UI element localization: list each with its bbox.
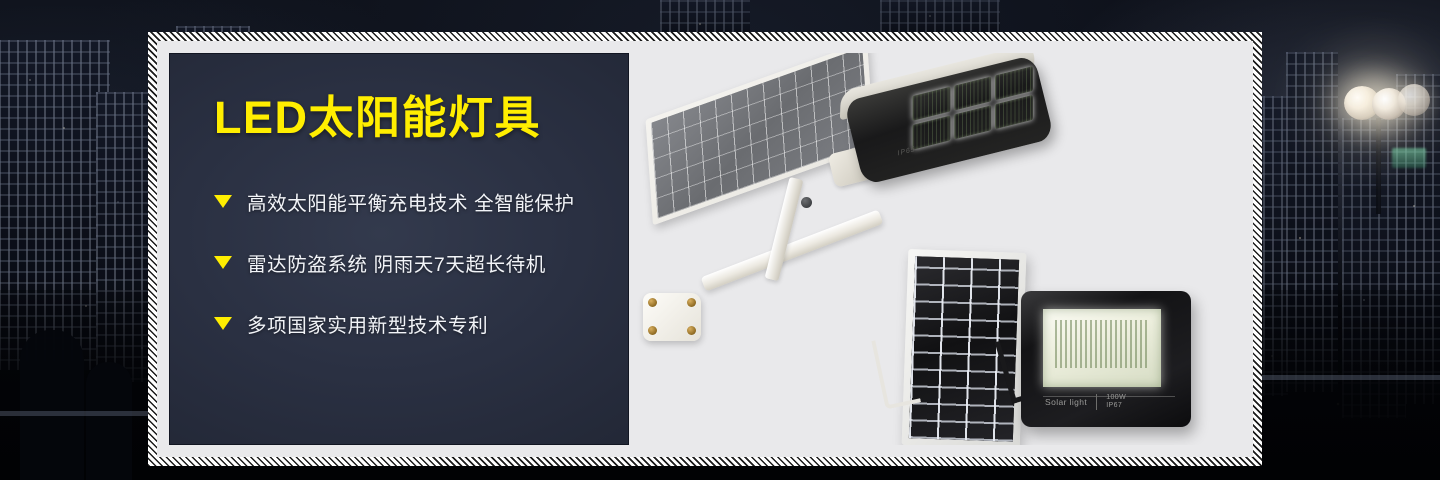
street-lamp-post bbox=[1376, 118, 1381, 214]
railing bbox=[0, 411, 150, 416]
flood-light-lens bbox=[1043, 309, 1161, 387]
bolt-icon bbox=[648, 298, 657, 307]
bolt-icon bbox=[687, 298, 696, 307]
street-light-head: IP65 bbox=[844, 55, 1055, 186]
ip-rating-text: IP67 bbox=[1106, 402, 1126, 411]
content-card: LED太阳能灯具 高效太阳能平衡充电技术 全智能保护 雷达防盗系统 阴雨天7天超… bbox=[157, 41, 1253, 457]
flood-light-housing: Solar light 100W IP67 bbox=[1021, 291, 1191, 427]
wattage-text: 100W bbox=[1106, 394, 1126, 403]
foreground-silhouette bbox=[20, 330, 84, 480]
spec-block: 100W IP67 bbox=[1106, 394, 1126, 412]
brand-text: Solar light bbox=[1045, 397, 1087, 407]
radar-sensor-icon bbox=[801, 197, 812, 208]
list-item: 雷达防盗系统 阴雨天7天超长待机 bbox=[214, 248, 628, 277]
feature-text: 多项国家实用新型技术专利 bbox=[247, 309, 488, 338]
product-stage: IP65 Solar l bbox=[629, 53, 1241, 445]
feature-list: 高效太阳能平衡充电技术 全智能保护 雷达防盗系统 阴雨天7天超长待机 多项国家实… bbox=[214, 187, 628, 338]
label-divider bbox=[1096, 394, 1097, 410]
bolt-icon bbox=[648, 326, 657, 335]
solar-cell-grid bbox=[651, 53, 869, 219]
headline-panel: LED太阳能灯具 高效太阳能平衡充电技术 全智能保护 雷达防盗系统 阴雨天7天超… bbox=[169, 53, 629, 445]
hatched-frame-border: LED太阳能灯具 高效太阳能平衡充电技术 全智能保护 雷达防盗系统 阴雨天7天超… bbox=[148, 32, 1262, 466]
foreground-silhouette bbox=[86, 362, 132, 480]
feature-text: 高效太阳能平衡充电技术 全智能保护 bbox=[247, 187, 575, 216]
flood-light-label: Solar light 100W IP67 bbox=[1045, 394, 1173, 412]
triangle-down-icon bbox=[214, 195, 232, 208]
solar-flood-light: Solar light 100W IP67 bbox=[1021, 291, 1191, 427]
lamp-globe-icon bbox=[1398, 84, 1430, 116]
distant-neon-sign bbox=[1392, 148, 1426, 168]
triangle-down-icon bbox=[214, 256, 232, 269]
page-title: LED太阳能灯具 bbox=[214, 94, 628, 143]
wall-mount-bracket bbox=[643, 293, 701, 341]
street-light-solar-panel bbox=[646, 53, 875, 225]
list-item: 多项国家实用新型技术专利 bbox=[214, 309, 628, 338]
street-light-support-arm bbox=[765, 177, 804, 281]
promo-banner: LED太阳能灯具 高效太阳能平衡充电技术 全智能保护 雷达防盗系统 阴雨天7天超… bbox=[0, 0, 1440, 480]
feature-text: 雷达防盗系统 阴雨天7天超长待机 bbox=[247, 248, 546, 277]
triangle-down-icon bbox=[214, 317, 232, 330]
list-item: 高效太阳能平衡充电技术 全智能保护 bbox=[214, 187, 628, 216]
bolt-icon bbox=[687, 326, 696, 335]
